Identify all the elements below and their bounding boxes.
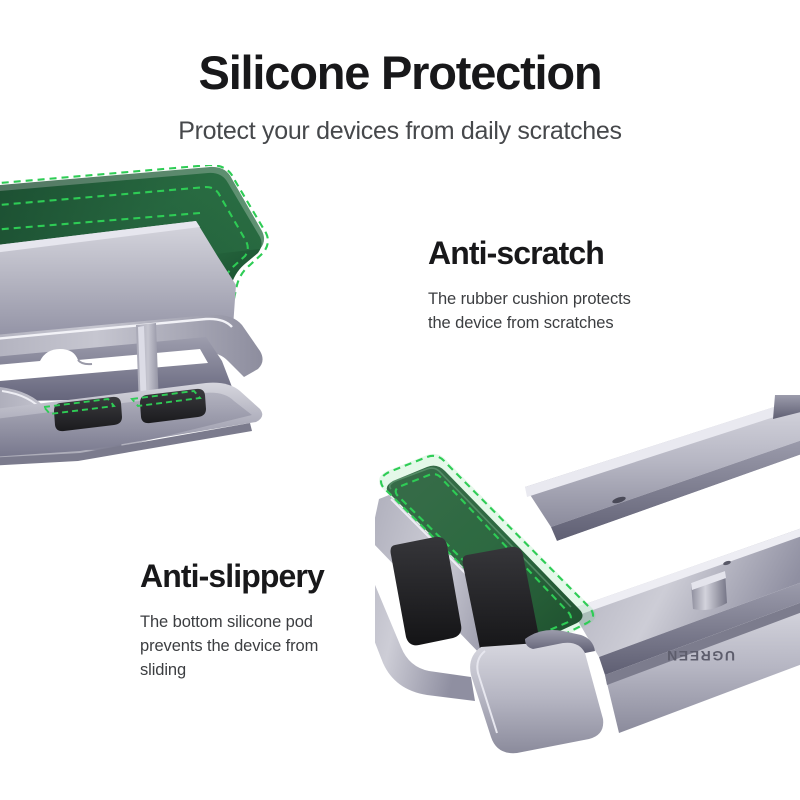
feature-title: Anti-slippery [140, 558, 324, 595]
product-image-inverted-stand: UGREEN [375, 395, 800, 760]
feature-body-line: the device from scratches [428, 312, 631, 336]
marketing-banner: REEN [0, 0, 800, 800]
page-title: Silicone Protection [0, 48, 800, 97]
feature-body: The rubber cushion protects the device f… [428, 288, 631, 336]
feature-anti-scratch: Anti-scratch The rubber cushion protects… [428, 235, 631, 336]
feature-title: Anti-scratch [428, 235, 631, 272]
front-foot [470, 630, 603, 753]
feature-body-line: prevents the device from [140, 635, 324, 659]
feature-body-line: The bottom silicone pod [140, 611, 324, 635]
feature-body: The bottom silicone pod prevents the dev… [140, 611, 324, 683]
page-subtitle: Protect your devices from daily scratche… [0, 116, 800, 147]
feature-body-line: The rubber cushion protects [428, 288, 631, 312]
brand-logo-text-inverted: UGREEN [666, 648, 736, 664]
feature-anti-slippery: Anti-slippery The bottom silicone pod pr… [140, 558, 324, 683]
feature-body-line: sliding [140, 659, 324, 683]
product-image-upright-stand: REEN [0, 165, 380, 485]
